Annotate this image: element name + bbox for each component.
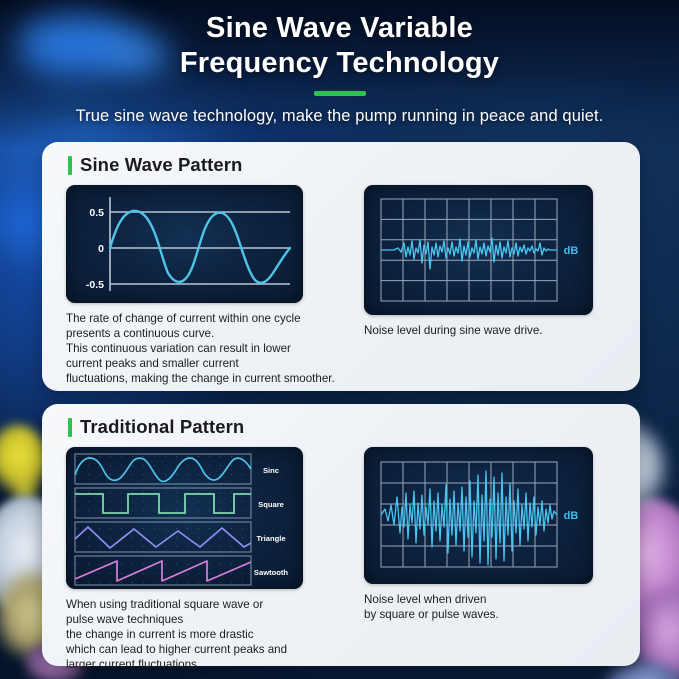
traditional-waveforms-svg: Sinc Square Triangle xyxy=(66,447,303,589)
card-body-traditional: Sinc Square Triangle xyxy=(42,438,640,672)
sine-wave-trace xyxy=(110,211,290,283)
noise-square-svg: dB xyxy=(364,447,593,584)
caption-traditional-left: When using traditional square wave or pu… xyxy=(66,597,356,672)
noise-chart-sine-drive: dB xyxy=(364,185,593,315)
sine-ytick-0: 0 xyxy=(98,243,104,255)
card-body-sine: 0.5 0 -0.5 The rate of change of current… xyxy=(42,176,640,386)
waveform-row-square: Square xyxy=(75,488,284,518)
sine-wave-chart: 0.5 0 -0.5 xyxy=(66,185,303,303)
card-traditional-pattern: Traditional Pattern Sinc xyxy=(42,404,640,666)
traditional-left-column: Sinc Square Triangle xyxy=(66,447,346,672)
page-title-line-2: Frequency Technology xyxy=(0,46,679,81)
waveform-row-sawtooth: Sawtooth xyxy=(75,556,288,585)
sine-wave-svg: 0.5 0 -0.5 xyxy=(66,185,303,303)
caption-traditional-right: Noise level when driven by square or pul… xyxy=(364,592,594,622)
page-header: Sine Wave Variable Frequency Technology … xyxy=(0,0,679,140)
caption-sine-right: Noise level during sine wave drive. xyxy=(364,323,594,338)
page-title-line-1: Sine Wave Variable xyxy=(206,12,473,44)
waveform-row-triangle: Triangle xyxy=(75,522,286,552)
card-header-sine: Sine Wave Pattern xyxy=(42,142,640,176)
card-header-traditional: Traditional Pattern xyxy=(42,404,640,438)
waveform-label-square: Square xyxy=(258,500,284,509)
card-accent-bar-sine xyxy=(68,156,72,175)
traditional-right-column: dB Noise level when driven by square or … xyxy=(364,447,612,672)
card-title-traditional: Traditional Pattern xyxy=(80,416,244,438)
title-accent-bar xyxy=(314,91,366,96)
noise1-db-label: dB xyxy=(564,245,579,257)
noise2-db-label: dB xyxy=(564,510,579,522)
waveform-label-triangle: Triangle xyxy=(256,534,285,543)
card-sine-wave-pattern: Sine Wave Pattern 0.5 0 -0.5 The rate of… xyxy=(42,142,640,391)
sine-right-column: dB Noise level during sine wave drive. xyxy=(364,185,612,386)
caption-sine-left: The rate of change of current within one… xyxy=(66,311,361,386)
card-title-sine: Sine Wave Pattern xyxy=(80,154,242,176)
noise-sine-svg: dB xyxy=(364,185,593,315)
page-title: Sine Wave Variable Frequency Technology xyxy=(0,0,679,82)
sine-ytick--0.5: -0.5 xyxy=(86,279,104,291)
noise-chart-square-drive: dB xyxy=(364,447,593,584)
card-accent-bar-traditional xyxy=(68,418,72,437)
page-subtitle: True sine wave technology, make the pump… xyxy=(0,107,679,126)
waveform-row-sinc: Sinc xyxy=(75,454,279,484)
sine-ytick-0.5: 0.5 xyxy=(89,207,104,219)
sine-left-column: 0.5 0 -0.5 The rate of change of current… xyxy=(66,185,346,386)
waveform-label-sinc: Sinc xyxy=(263,466,279,475)
traditional-waveforms-chart: Sinc Square Triangle xyxy=(66,447,303,589)
waveform-label-sawtooth: Sawtooth xyxy=(254,568,289,577)
